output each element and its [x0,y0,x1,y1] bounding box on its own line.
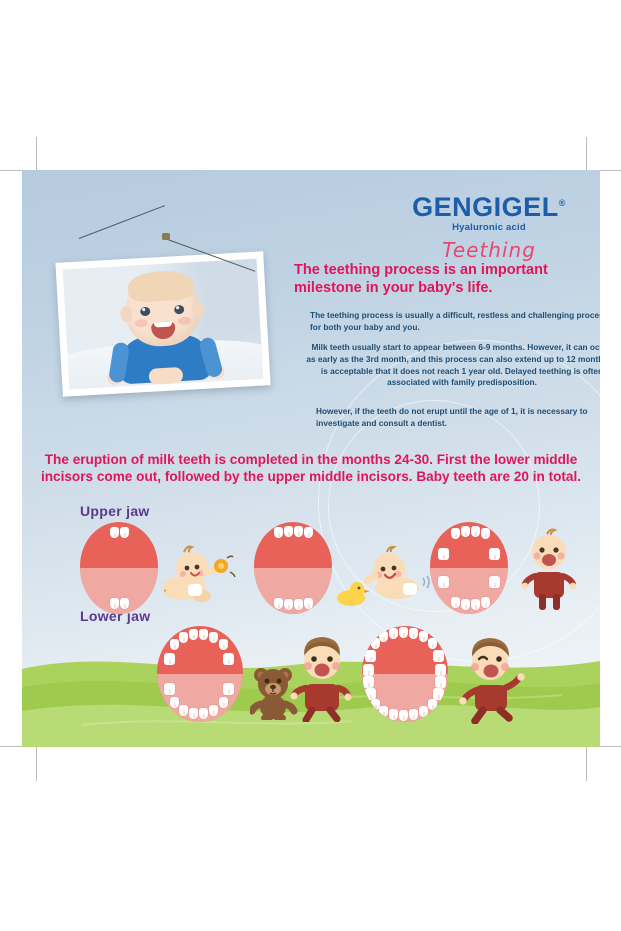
mouth-diagram-stage-2 [254,522,332,614]
baby-ear-left [120,306,133,323]
photo-baby-figure [97,271,229,386]
crop-mark-top-left-v [36,137,37,171]
tooth-lower-incisor [179,705,188,716]
paragraph-intro: The teething process is usually a diffic… [310,310,600,334]
crop-mark-top-right-v [586,137,587,171]
nail-icon [162,233,170,240]
paragraph-advice: However, if the teeth do not erupt until… [316,406,600,430]
tooth-lower-molar [164,683,175,695]
eruption-note: The eruption of milk teeth is completed … [22,452,600,485]
tooth-upper-incisor [389,628,398,639]
tooth-lower-incisor [209,705,218,716]
tooth-lower-incisor [304,598,313,609]
tooth-upper-incisor [294,526,303,537]
brand-tagline: Hyaluronic acid [394,222,584,233]
character-crawling-baby-with-duck [363,544,433,609]
upper-jaw-label: Upper jaw [80,503,150,519]
tooth-upper-incisor [461,526,470,537]
tooth-upper-incisor [409,628,418,639]
tooth-lower-incisor [389,709,398,720]
registered-mark: ® [559,198,566,208]
tooth-upper-incisor [189,629,198,640]
baby-mouth [151,321,176,339]
tooth-lower-incisor [110,598,119,609]
tooth-upper-incisor [209,632,218,643]
product-name: Teething [394,238,584,262]
tooth-lower-canine [170,697,179,708]
tooth-upper-canine [219,639,228,650]
tooth-lower-incisor [399,710,408,721]
character-running-boy [459,632,525,729]
baby-eye-right [174,305,184,315]
brand-logo: GENGIGEL® Hyaluronic acid Teething [394,194,584,262]
tooth-upper-molar [435,664,446,676]
tooth-upper-incisor [179,632,188,643]
tooth-lower-incisor [294,599,303,610]
tooth-lower-molar [223,683,234,695]
mouth-diagram-stage-5 [362,626,448,722]
photo-frame-border [55,251,270,396]
character-crawling-baby-with-rattle [164,542,238,609]
tooth-lower-incisor [409,709,418,720]
tooth-lower-molar [438,576,449,588]
character-boy-with-teddy-bear [290,632,352,727]
tooth-upper-molar [363,664,374,676]
tooth-lower-incisor [120,598,129,609]
tooth-upper-incisor [304,527,313,538]
brand-name-text: GENGIGEL [412,192,559,222]
brand-name: GENGIGEL® [412,194,566,221]
tooth-upper-molar [164,653,175,665]
tooth-upper-incisor [399,627,408,638]
mouth-diagram-stage-4 [157,626,243,722]
tooth-lower-incisor [379,706,388,717]
tooth-lower-incisor [284,599,293,610]
baby-ear-right [192,302,205,319]
tooth-upper-incisor [284,526,293,537]
baby-hands [148,367,183,385]
mouth-diagram-stage-3 [430,522,508,614]
tooth-lower-incisor [481,597,490,608]
tooth-upper-canine [170,639,179,650]
tooth-upper-incisor [451,528,460,539]
tooth-lower-incisor [199,708,208,719]
crop-mark-bottom-left-v [36,747,37,781]
crop-mark-bottom-right-v [586,747,587,781]
tooth-upper-incisor [199,629,208,640]
tooth-lower-incisor [189,708,198,719]
tooth-upper-incisor [120,527,129,538]
tooth-upper-molar [365,650,376,662]
tooth-lower-incisor [274,598,283,609]
tooth-upper-incisor [481,528,490,539]
tooth-lower-molar [363,676,374,688]
tooth-upper-incisor [379,631,388,642]
tooth-upper-molar [433,650,444,662]
tooth-lower-incisor [471,599,480,610]
tooth-upper-canine [371,638,380,649]
tooth-upper-incisor [274,527,283,538]
baby-eye-left [140,307,150,317]
tooth-upper-molar [223,653,234,665]
tooth-upper-canine [419,631,428,642]
tooth-upper-molar [438,548,449,560]
tooth-upper-molar [489,548,500,560]
teething-infographic-poster: GENGIGEL® Hyaluronic acid Teething [22,170,600,747]
hanging-photo-frame [57,235,273,395]
tooth-lower-canine [428,699,437,710]
baby-cheek-right [178,316,191,325]
tooth-upper-incisor [471,526,480,537]
page-title: The teething process is an important mil… [294,262,594,297]
baby-photo [63,259,263,390]
tooth-lower-incisor [461,599,470,610]
lower-gum [80,568,158,614]
mouth-diagram-stage-1 [80,522,158,614]
character-standing-toddler [522,528,578,617]
lower-gum [254,568,332,614]
baby-cheek-left [135,319,148,328]
tooth-lower-molar [489,576,500,588]
tooth-upper-canine [428,638,437,649]
paragraph-timeline: Milk teeth usually start to appear betwe… [306,342,600,389]
tooth-lower-incisor [419,706,428,717]
tooth-upper-incisor [110,527,119,538]
tooth-lower-canine [219,697,228,708]
frame-wire-left [79,205,165,239]
tooth-lower-molar [435,676,446,688]
tooth-lower-incisor [451,597,460,608]
